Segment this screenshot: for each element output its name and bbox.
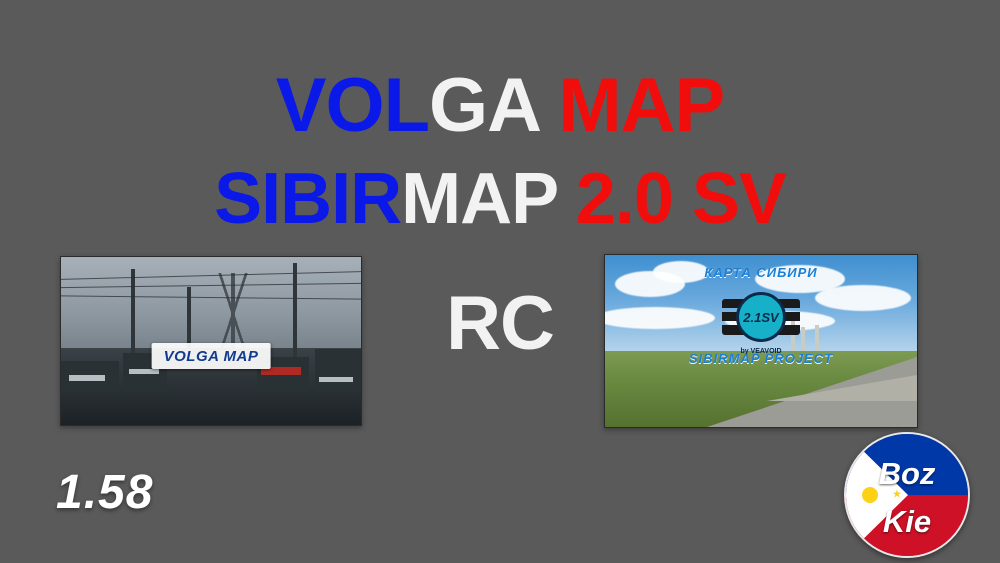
bozkie-label-bottom: Kie xyxy=(846,504,968,540)
title-line-1-part-3: MAP xyxy=(558,63,724,148)
title-line-2: SIBIRMAP 2.0 SV xyxy=(0,163,1000,235)
title-line-3-part-1: RC xyxy=(446,281,554,366)
title-line-1-part-1: VOL xyxy=(276,63,429,148)
sibirmap-logo-ring: 2.1SV xyxy=(736,292,786,342)
volga-pole xyxy=(293,263,297,359)
volga-lit-window xyxy=(69,375,105,381)
sibirmap-logo: 2.1SV by VEAVOID xyxy=(718,289,804,345)
thumbnail-canvas: VOLGA MAP SIBIRMAP 2.0 SV RC VOLGA MAP xyxy=(0,0,1000,563)
sibir-highway-far-lane xyxy=(767,375,917,401)
title-line-2-part-1: SIBIR xyxy=(214,159,401,239)
sibir-top-label: КАРТА СИБИРИ xyxy=(704,265,817,280)
sibir-bottom-label: SIBIRMAP PROJECT xyxy=(689,351,833,366)
title-line-2-part-2: MAP xyxy=(401,159,576,239)
volga-lit-window xyxy=(129,369,159,374)
bozkie-logo-badge: ★ ★ ★ Boz Kie xyxy=(844,432,970,558)
title-line-2-part-3: 2.0 SV xyxy=(576,159,786,239)
title-line-1: VOLGA MAP xyxy=(0,68,1000,144)
title-line-1-part-2: GA xyxy=(429,63,558,148)
volga-map-screenshot: VOLGA MAP xyxy=(60,256,362,426)
bozkie-label-top: Boz xyxy=(846,456,968,492)
sibir-cloud xyxy=(653,261,709,283)
volga-lamp-post xyxy=(131,269,135,355)
game-version-label: 1.58 xyxy=(56,465,153,520)
volga-lit-window xyxy=(319,377,353,382)
volga-overlay-label: VOLGA MAP xyxy=(152,343,271,369)
sibir-cloud xyxy=(815,285,911,311)
volga-building xyxy=(315,349,361,393)
sibirmap-screenshot: КАРТА СИБИРИ 2.1SV by VEAVOID SIBIRMAP P… xyxy=(604,254,918,428)
